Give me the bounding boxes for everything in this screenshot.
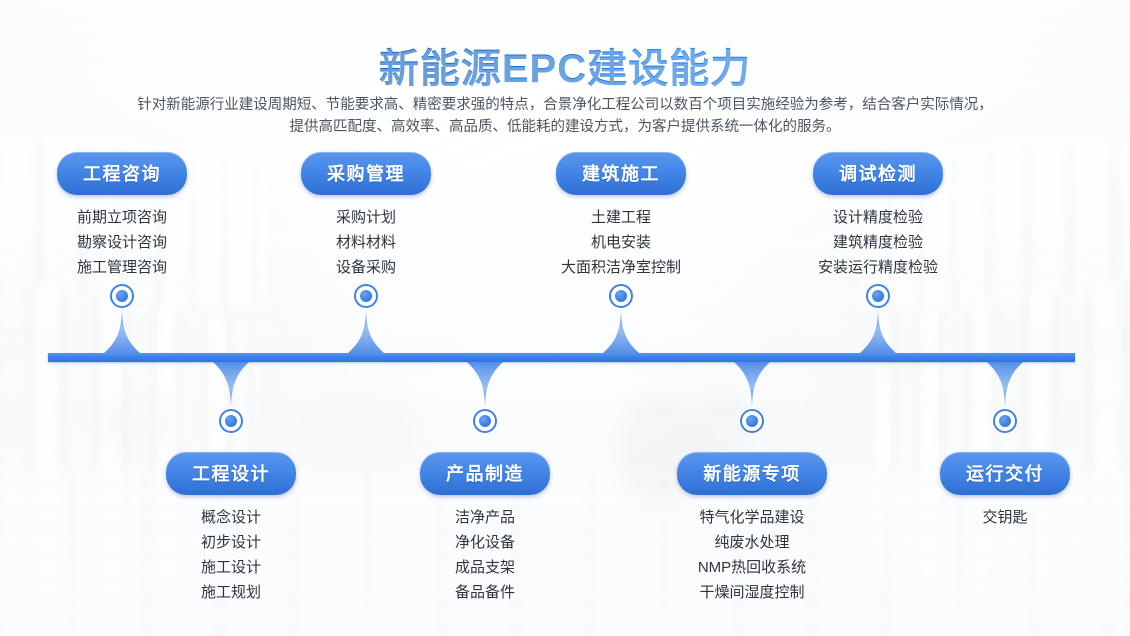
stage-list-item: 安装运行精度检验 (728, 255, 1028, 280)
timeline-node-top-3: 建筑施工土建工程机电安装大面积洁净室控制 (471, 152, 771, 280)
stage-pill-button[interactable]: 采购管理 (301, 152, 431, 195)
stage-pill-button[interactable]: 新能源专项 (677, 452, 827, 495)
timeline-marker-dot-icon[interactable] (993, 409, 1017, 433)
stage-pill-button[interactable]: 建筑施工 (556, 152, 686, 195)
connector-funnel (465, 362, 505, 409)
page-title: 新能源EPC建设能力 (0, 36, 1130, 94)
connector-funnel (346, 308, 386, 353)
timeline-node-top-4: 调试检测设计精度检验建筑精度检验安装运行精度检验 (728, 152, 1028, 280)
stage-list-item: 机电安装 (471, 230, 771, 255)
stage-item-list: 设计精度检验建筑精度检验安装运行精度检验 (728, 205, 1028, 280)
timeline-bar (48, 353, 1075, 362)
stage-list-item: NMP热回收系统 (602, 555, 902, 580)
stage-list-item: 干燥间湿度控制 (602, 580, 902, 605)
connector-funnel (985, 362, 1025, 409)
connector-funnel (601, 308, 641, 353)
stage-list-item: 土建工程 (471, 205, 771, 230)
stage-pill-button[interactable]: 调试检测 (813, 152, 943, 195)
stage-list-item: 交钥匙 (855, 505, 1130, 530)
subtitle-line-2: 提供高匹配度、高效率、高品质、低能耗的建设方式，为客户提供系统一体化的服务。 (85, 116, 1045, 138)
stage-pill-button[interactable]: 运行交付 (940, 452, 1070, 495)
stage-item-list: 交钥匙 (855, 505, 1130, 530)
timeline-marker-dot-icon[interactable] (219, 409, 243, 433)
timeline-marker-dot-icon[interactable] (110, 284, 134, 308)
stage-list-item: 成品支架 (335, 555, 635, 580)
stage-list-item: 洁净产品 (335, 505, 635, 530)
stage-item-list: 洁净产品净化设备成品支架备品备件 (335, 505, 635, 605)
timeline-marker-dot-icon[interactable] (473, 409, 497, 433)
connector-funnel (858, 308, 898, 353)
stage-item-list: 土建工程机电安装大面积洁净室控制 (471, 205, 771, 280)
connector-funnel (211, 362, 251, 409)
subtitle-line-1: 针对新能源行业建设周期短、节能要求高、精密要求强的特点，合景净化工程公司以数百个… (85, 94, 1045, 116)
stage-list-item: 净化设备 (335, 530, 635, 555)
stage-list-item: 设计精度检验 (728, 205, 1028, 230)
timeline-marker-dot-icon[interactable] (354, 284, 378, 308)
timeline-marker-dot-icon[interactable] (609, 284, 633, 308)
stage-list-item: 备品备件 (335, 580, 635, 605)
subtitle-paragraph: 针对新能源行业建设周期短、节能要求高、精密要求强的特点，合景净化工程公司以数百个… (85, 94, 1045, 138)
infographic-content: 新能源EPC建设能力 针对新能源行业建设周期短、节能要求高、精密要求强的特点，合… (0, 0, 1130, 636)
timeline-node-bottom-4: 运行交付交钥匙 (855, 452, 1130, 530)
stage-pill-button[interactable]: 产品制造 (420, 452, 550, 495)
connector-funnel (102, 308, 142, 353)
stage-list-item: 纯废水处理 (602, 530, 902, 555)
timeline-marker-dot-icon[interactable] (740, 409, 764, 433)
timeline-marker-dot-icon[interactable] (866, 284, 890, 308)
stage-list-item: 大面积洁净室控制 (471, 255, 771, 280)
stage-pill-button[interactable]: 工程咨询 (57, 152, 187, 195)
stage-list-item: 建筑精度检验 (728, 230, 1028, 255)
timeline-node-bottom-2: 产品制造洁净产品净化设备成品支架备品备件 (335, 452, 635, 605)
connector-funnel (732, 362, 772, 409)
stage-pill-button[interactable]: 工程设计 (166, 452, 296, 495)
